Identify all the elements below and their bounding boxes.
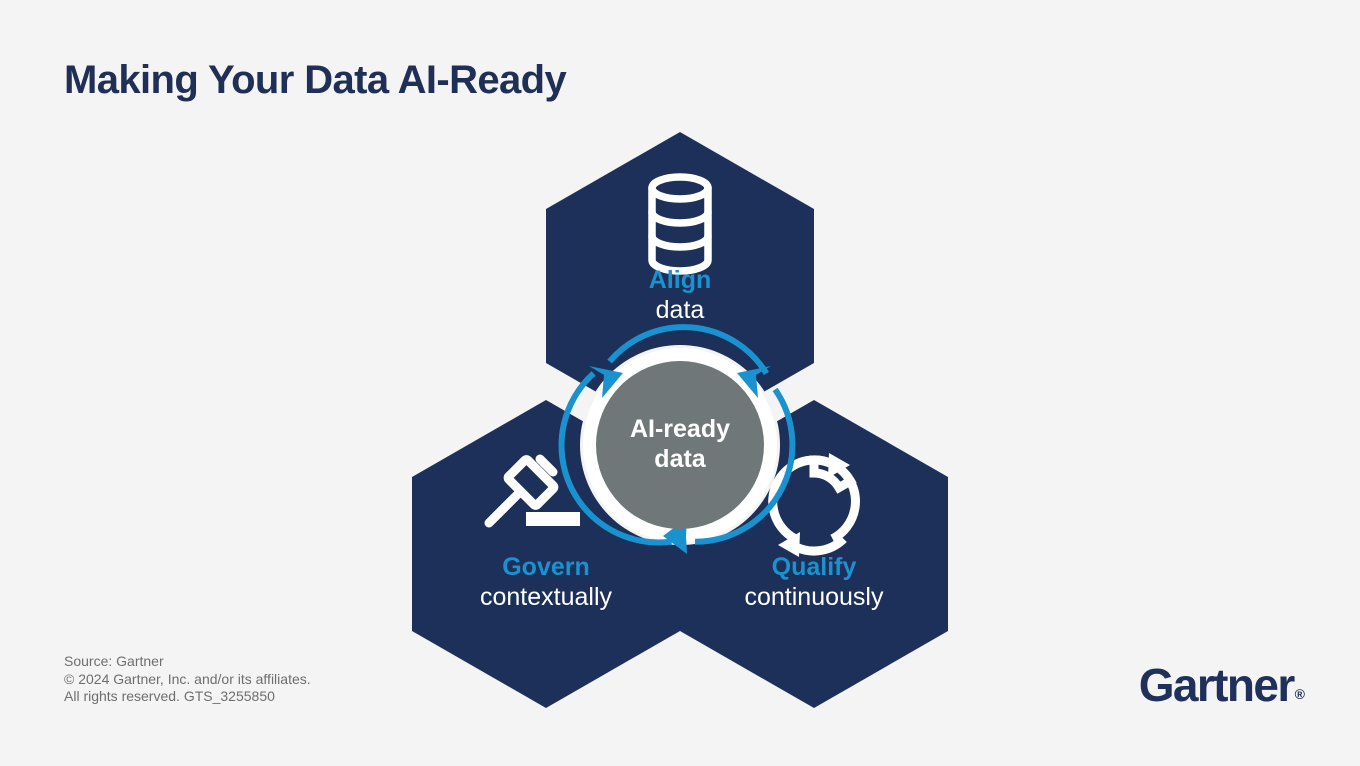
gartner-logo-text: Gartner <box>1139 659 1294 711</box>
hex-title-align: Align <box>649 266 712 294</box>
ai-ready-data-diagram: Align data Govern contextually <box>380 120 980 720</box>
page-title: Making Your Data AI-Ready <box>64 58 566 103</box>
hex-subtitle-qualify: continuously <box>745 583 884 611</box>
hex-subtitle-govern: contextually <box>480 583 613 611</box>
gartner-logo: Gartner® <box>1139 662 1304 708</box>
hex-title-govern: Govern <box>502 553 590 581</box>
copyright-line: © 2024 Gartner, Inc. and/or its affiliat… <box>64 671 311 689</box>
rights-line: All rights reserved. GTS_3255850 <box>64 688 311 706</box>
registered-trademark-icon: ® <box>1295 686 1305 702</box>
source-block: Source: Gartner © 2024 Gartner, Inc. and… <box>64 653 311 706</box>
center-label-line1: AI-ready <box>630 415 730 443</box>
source-line-1: Source: Gartner <box>64 653 311 671</box>
hex-title-qualify: Qualify <box>772 553 857 581</box>
center-label-line2: data <box>654 445 707 473</box>
hex-subtitle-align: data <box>656 296 705 324</box>
